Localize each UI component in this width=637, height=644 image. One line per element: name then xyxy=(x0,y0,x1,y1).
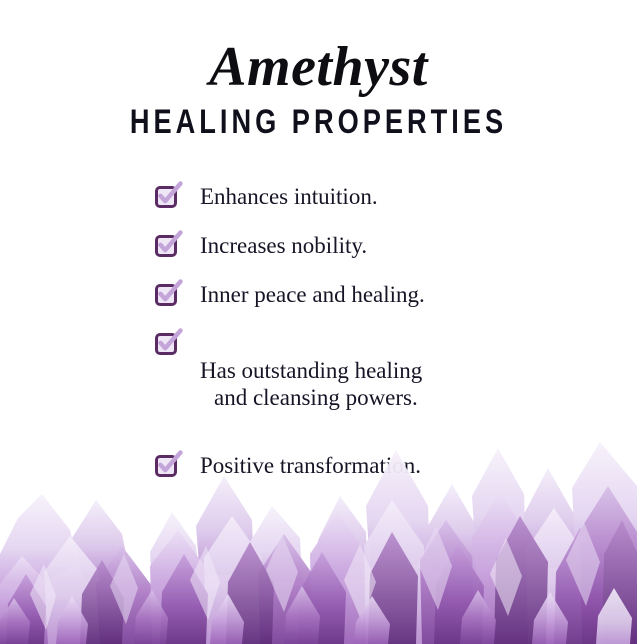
amethyst-crystal-cluster-image xyxy=(0,434,637,644)
title-block: Amethyst HEALING PROPERTIES xyxy=(0,36,637,142)
list-item-line-1: Has outstanding healing xyxy=(200,358,422,383)
page-subtitle: HEALING PROPERTIES xyxy=(64,102,574,142)
page-title: Amethyst xyxy=(0,36,637,98)
list-item-label: Increases nobility. xyxy=(200,232,367,259)
list-item-line-2: and cleansing powers. xyxy=(200,384,422,411)
list-item: Inner peace and healing. xyxy=(155,281,575,308)
list-item-label-multiline: Has outstanding healing and cleansing po… xyxy=(200,330,422,438)
list-item: Increases nobility. xyxy=(155,232,575,259)
checkbox-checked-icon xyxy=(155,186,177,208)
checkbox-checked-icon xyxy=(155,333,177,355)
checkbox-checked-icon xyxy=(155,235,177,257)
list-item-label: Enhances intuition. xyxy=(200,183,378,210)
checkbox-checked-icon xyxy=(155,284,177,306)
list-item: Enhances intuition. xyxy=(155,183,575,210)
crystal-cluster-svg xyxy=(0,434,637,644)
list-item-label: Inner peace and healing. xyxy=(200,281,425,308)
amethyst-poster: Amethyst HEALING PROPERTIES Enhances int… xyxy=(0,0,637,644)
list-item: Has outstanding healing and cleansing po… xyxy=(155,330,575,438)
